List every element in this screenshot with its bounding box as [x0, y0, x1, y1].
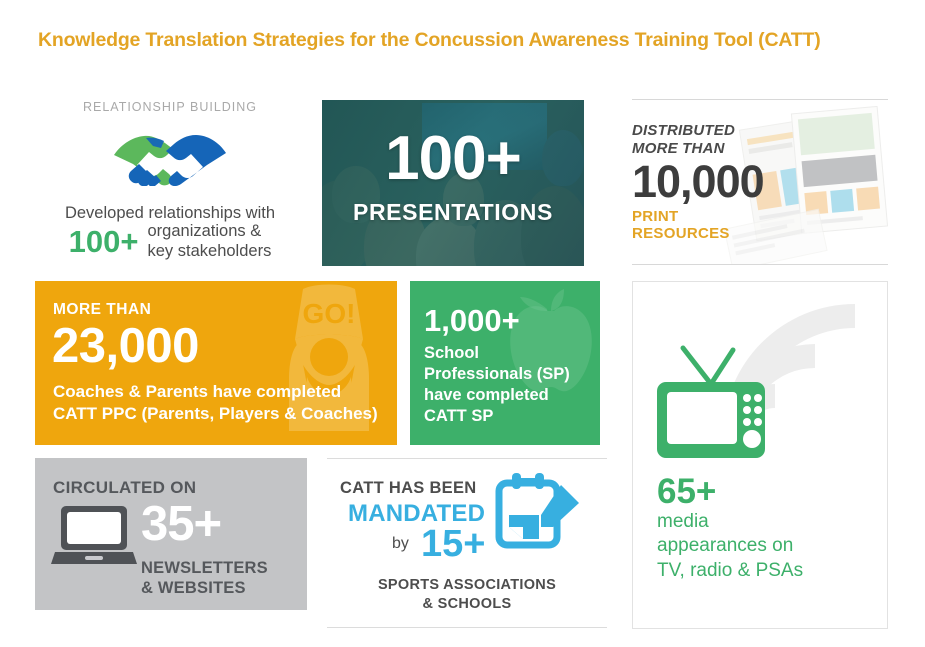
media-body-line1: media: [657, 510, 872, 534]
mandated-by: by: [392, 535, 409, 553]
relationship-text-block: Developed relationships with 100+ organi…: [35, 204, 305, 261]
print-sub-line1: PRINT: [632, 208, 764, 225]
ppc-eyebrow: MORE THAN: [53, 301, 151, 319]
newsletters-heading: CIRCULATED ON: [53, 478, 196, 498]
school-body-line4: CATT SP: [424, 406, 599, 427]
school-professionals-panel: 1,000+ School Professionals (SP) have co…: [410, 281, 600, 445]
presentations-number: 100+: [322, 128, 584, 190]
print-heading-line2: MORE THAN: [632, 140, 764, 158]
print-sub-line2: RESOURCES: [632, 225, 764, 242]
relationship-line1: Developed relationships with: [35, 204, 305, 223]
relationship-building-panel: RELATIONSHIP BUILDING Developed relation…: [35, 100, 305, 265]
newsletters-sub-line2: & WEBSITES: [141, 578, 268, 598]
ppc-completions-panel: GO! MORE THAN 23,000 Coaches & Parents h…: [35, 281, 397, 445]
infographic-page: Knowledge Translation Strategies for the…: [0, 0, 925, 647]
page-title: Knowledge Translation Strategies for the…: [38, 29, 820, 52]
ppc-body-line1: Coaches & Parents have completed: [53, 381, 393, 403]
media-number: 65+: [657, 474, 716, 509]
mandated-sub-line2: & SCHOOLS: [327, 595, 607, 614]
relationship-line3: key stakeholders: [148, 242, 272, 261]
mandated-line1: CATT HAS BEEN: [340, 479, 477, 498]
go-sign-text: GO!: [303, 298, 356, 329]
ppc-body-line2: CATT PPC (Parents, Players & Coaches): [53, 403, 393, 425]
presentations-panel: 100+ PRESENTATIONS: [322, 100, 584, 266]
mandated-sub: SPORTS ASSOCIATIONS & SCHOOLS: [327, 576, 607, 614]
print-text-block: DISTRIBUTED MORE THAN 10,000 PRINT RESOU…: [632, 122, 764, 242]
relationship-line2: organizations &: [148, 222, 272, 241]
ppc-body: Coaches & Parents have completed CATT PP…: [53, 381, 393, 426]
print-heading-line1: DISTRIBUTED: [632, 122, 764, 140]
school-body-line3: have completed: [424, 385, 599, 406]
print-resources-panel: DISTRIBUTED MORE THAN 10,000 PRINT RESOU…: [632, 99, 888, 265]
media-body: media appearances on TV, radio & PSAs: [657, 510, 872, 583]
school-number: 1,000+: [424, 305, 520, 336]
school-body-line1: School: [424, 343, 599, 364]
print-number: 10,000: [632, 158, 764, 205]
media-body-line2: appearances on: [657, 534, 872, 558]
media-body-line3: TV, radio & PSAs: [657, 559, 872, 583]
mandated-sub-line1: SPORTS ASSOCIATIONS: [327, 576, 607, 595]
school-body-line2: Professionals (SP): [424, 364, 599, 385]
television-icon: [655, 344, 771, 462]
mandated-panel: CATT HAS BEEN MANDATED by 15+ SPORTS ASS…: [327, 458, 607, 628]
handshake-icon: [111, 124, 229, 186]
presentations-label: PRESENTATIONS: [322, 199, 584, 226]
newsletters-panel: CIRCULATED ON 35+ NEWSLETTERS & WEBSITES: [35, 458, 307, 610]
laptop-icon: [51, 504, 137, 566]
newsletters-number: 35+: [141, 500, 221, 549]
newsletters-sub: NEWSLETTERS & WEBSITES: [141, 558, 268, 599]
relationship-number: 100+: [69, 226, 139, 257]
clipboard-pencil-icon: [495, 471, 587, 555]
media-appearances-panel: 65+ media appearances on TV, radio & PSA…: [632, 281, 888, 629]
newsletters-sub-line1: NEWSLETTERS: [141, 558, 268, 578]
school-body: School Professionals (SP) have completed…: [424, 343, 599, 427]
mandated-number: 15+: [421, 525, 485, 563]
relationship-heading: RELATIONSHIP BUILDING: [35, 100, 305, 114]
ppc-number: 23,000: [52, 321, 199, 372]
